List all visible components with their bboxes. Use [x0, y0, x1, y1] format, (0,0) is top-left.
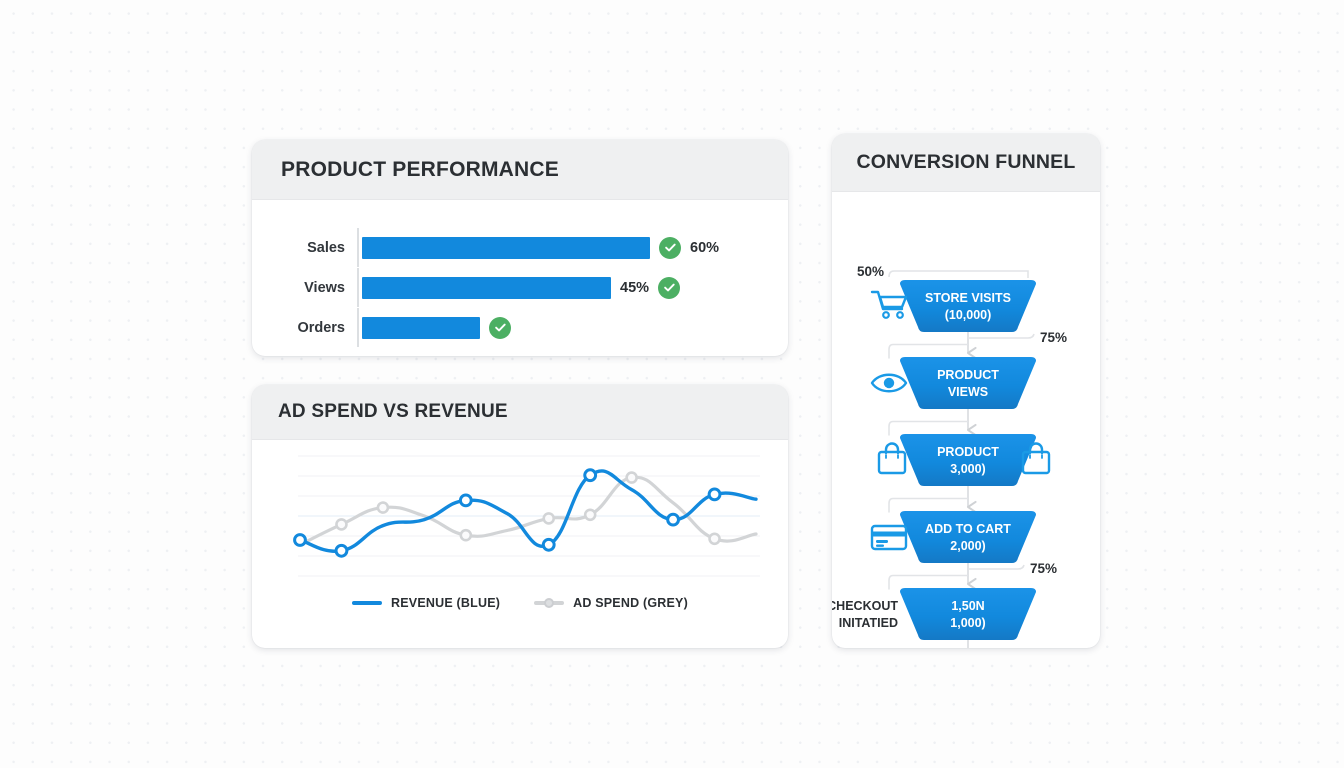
product-performance-title: PRODUCT PERFORMANCE [281, 158, 559, 182]
funnel-rate-label: 50% [857, 264, 884, 279]
data-point-revenue [336, 545, 347, 556]
data-point-ad-spend [544, 513, 554, 523]
bar-fill-orders [362, 317, 480, 339]
legend-swatch-revenue-icon [352, 601, 382, 605]
data-point-revenue [668, 514, 679, 525]
data-point-ad-spend [710, 534, 720, 544]
funnel-stage-line2: 1,000) [950, 616, 985, 630]
check-circle-icon [659, 237, 681, 259]
funnel-stage-shape [900, 434, 1036, 486]
check-circle-icon [658, 277, 680, 299]
conversion-funnel-title: CONVERSION FUNNEL [857, 151, 1076, 174]
funnel-stage-shape [900, 357, 1036, 409]
data-point-ad-spend [378, 503, 388, 513]
funnel-stage-shape [900, 588, 1036, 640]
bar-row-views[interactable]: Views 45% [252, 268, 788, 307]
data-point-revenue [543, 539, 554, 550]
shopping-bag-icon [879, 444, 905, 474]
data-point-revenue [295, 535, 306, 546]
funnel-rate-label: 75% [1030, 561, 1057, 576]
funnel-bracket-left [889, 345, 968, 359]
funnel-outside-label: CHECKOUT [832, 599, 898, 613]
conversion-funnel-card: CONVERSION FUNNEL STORE VISITS(10,000)PR… [832, 134, 1100, 648]
funnel-bracket-left [889, 576, 968, 590]
funnel-bracket-left [889, 499, 968, 513]
data-point-ad-spend [627, 473, 637, 483]
legend-item-revenue[interactable]: REVENUE (BLUE) [352, 596, 500, 610]
funnel-stage-line1: PRODUCT [937, 445, 999, 459]
funnel-outside-label: INITATIED [839, 616, 898, 630]
bar-track-views: 45% [357, 268, 680, 307]
bar-row-orders[interactable]: Orders [252, 308, 788, 347]
ad-spend-vs-revenue-card: AD SPEND VS REVENUE REVENUE (BLUE) AD SP… [252, 385, 788, 648]
credit-card-icon [872, 526, 906, 549]
funnel-stage-line2: 3,000) [950, 462, 985, 476]
conversion-funnel-body: STORE VISITS(10,000)PRODUCTVIEWSPRODUCT3… [832, 192, 1100, 648]
funnel-stage-line1: STORE VISITS [925, 291, 1011, 305]
funnel-stage-line1: PRODUCT [937, 368, 999, 382]
eye-icon [872, 375, 906, 392]
bar-value-views: 45% [620, 280, 649, 296]
bar-after-orders [489, 317, 520, 339]
funnel-stage-line2: (10,000) [945, 308, 992, 322]
legend-swatch-ad-spend-icon [534, 601, 564, 605]
legend-label-ad-spend: AD SPEND (GREY) [573, 596, 688, 610]
funnel-stage-shape [900, 280, 1036, 332]
data-point-ad-spend [585, 510, 595, 520]
funnel-stage-line2: VIEWS [948, 385, 988, 399]
funnel-rate-bracket [968, 334, 1034, 338]
funnel-stage-line1: 1,50N [951, 599, 984, 613]
ad-spend-header: AD SPEND VS REVENUE [252, 385, 788, 440]
bar-after-views: 45% [620, 277, 680, 299]
data-point-revenue [460, 495, 471, 506]
ad-spend-line-chart [252, 440, 788, 590]
line-chart-svg [252, 440, 788, 592]
bar-label-views: Views [267, 280, 357, 296]
check-circle-icon [489, 317, 511, 339]
product-performance-bars: Sales 60% Views 45% [252, 200, 788, 347]
product-performance-card: PRODUCT PERFORMANCE Sales 60% Views 45% [252, 140, 788, 356]
data-point-revenue [585, 470, 596, 481]
data-point-revenue [709, 489, 720, 500]
chart-gridlines [298, 456, 760, 576]
bar-fill-sales [362, 237, 650, 259]
bar-value-sales: 60% [690, 240, 719, 256]
data-point-ad-spend [461, 530, 471, 540]
legend-label-revenue: REVENUE (BLUE) [391, 596, 500, 610]
funnel-stage-shape [900, 511, 1036, 563]
bar-label-orders: Orders [267, 320, 357, 336]
bar-fill-views [362, 277, 611, 299]
bar-track-sales: 60% [357, 228, 719, 267]
shopping-cart-icon [872, 292, 906, 318]
funnel-rate-bracket [889, 271, 1028, 278]
conversion-funnel-header: CONVERSION FUNNEL [832, 134, 1100, 192]
funnel-stage-line1: ADD TO CART [925, 522, 1011, 536]
funnel-bracket-left [889, 422, 968, 436]
funnel-stage-line2: 2,000) [950, 539, 985, 553]
funnel-diagram-svg: STORE VISITS(10,000)PRODUCTVIEWSPRODUCT3… [832, 192, 1100, 648]
ad-spend-legend: REVENUE (BLUE) AD SPEND (GREY) [252, 596, 788, 610]
bar-row-sales[interactable]: Sales 60% [252, 228, 788, 267]
data-point-ad-spend [336, 519, 346, 529]
funnel-rate-bracket [968, 565, 1024, 569]
product-performance-header: PRODUCT PERFORMANCE [252, 140, 788, 200]
bar-track-orders [357, 308, 520, 347]
funnel-rate-label: 75% [1040, 330, 1067, 345]
legend-item-ad-spend[interactable]: AD SPEND (GREY) [534, 596, 688, 610]
ad-spend-title: AD SPEND VS REVENUE [278, 401, 508, 423]
bar-after-sales: 60% [659, 237, 719, 259]
bar-label-sales: Sales [267, 240, 357, 256]
